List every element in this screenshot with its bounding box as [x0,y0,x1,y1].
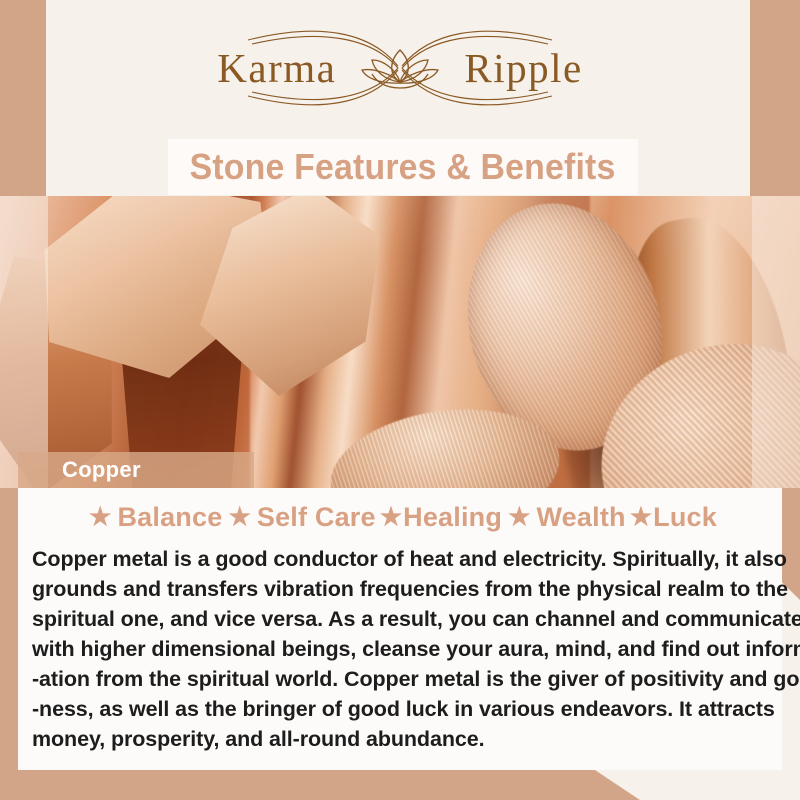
description-line: -ation from the spiritual world. Copper … [32,664,772,694]
keyword-luck: Luck [653,502,717,533]
decorative-band-bottom [0,770,640,800]
description-line: -ness, as well as the bringer of good lu… [32,694,772,724]
star-icon: ★ [89,505,111,530]
star-icon: ★ [508,505,530,530]
stone-name-badge: Copper [18,452,254,488]
keyword-self-care: Self Care [257,502,376,533]
content-card: ★ Balance ★ Self Care ★ Healing ★ Wealth… [18,488,782,770]
description-line: grounds and transfers vibration frequenc… [32,574,772,604]
stone-name-label: Copper [62,457,141,483]
keyword-wealth: Wealth [536,502,625,533]
keyword-list: ★ Balance ★ Self Care ★ Healing ★ Wealth… [18,502,782,533]
star-icon: ★ [380,505,402,530]
hero-image [0,196,800,488]
description-line: money, prosperity, and all-round abundan… [32,724,772,754]
infographic-page: Karma Ripple Stone Features & Benefits [0,0,800,800]
description-line: spiritual one, and vice versa. As a resu… [32,604,772,634]
keyword-balance: Balance [117,502,222,533]
brand-name-left: Karma [217,44,336,92]
title-banner: Stone Features & Benefits [168,139,638,195]
hero-overlay-right [752,196,800,488]
description-line: Copper metal is a good conductor of heat… [32,544,772,574]
brand-logo: Karma Ripple [0,16,800,120]
hero-overlay-left [0,196,48,488]
page-title: Stone Features & Benefits [190,146,616,188]
brand-name-right: Ripple [464,44,582,92]
star-icon: ★ [630,505,652,530]
description-line: with higher dimensional beings, cleanse … [32,634,772,664]
star-icon: ★ [228,505,250,530]
description-text: Copper metal is a good conductor of heat… [32,544,772,754]
copper-bars-photo [0,196,800,488]
keyword-healing: Healing [403,502,502,533]
